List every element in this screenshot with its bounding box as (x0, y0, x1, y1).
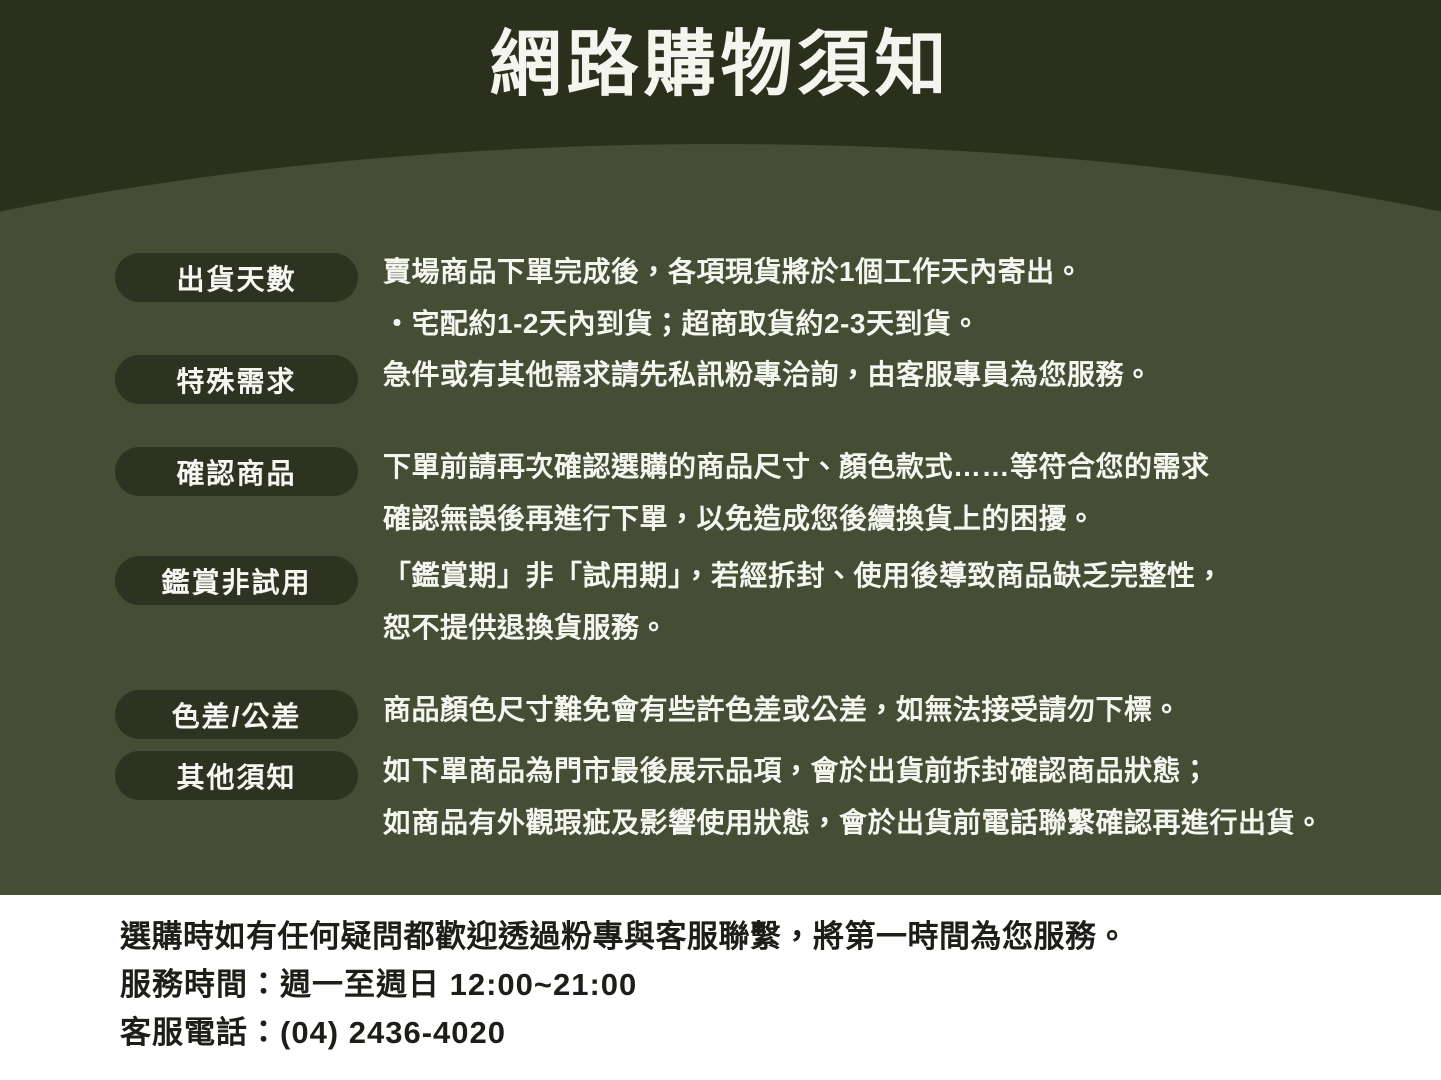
notice-label-inspection-not-trial: 鑑賞非試用 (115, 556, 358, 605)
notice-line: ・宅配約1-2天內到貨；超商取貨約2-3天到貨。 (383, 298, 1083, 350)
notice-text-confirm-product: 下單前請再次確認選購的商品尺寸、顏色款式……等符合您的需求 確認無誤後再進行下單… (383, 441, 1210, 545)
notice-label-confirm-product: 確認商品 (115, 447, 358, 496)
notice-label-color-size-tolerance: 色差/公差 (115, 690, 358, 739)
notice-line: 如下單商品為門市最後展示品項，會於出貨前拆封確認商品狀態； (383, 745, 1324, 797)
notice-line: 急件或有其他需求請先私訊粉專洽詢，由客服專員為您服務。 (383, 349, 1153, 401)
notice-text-inspection-not-trial: 「鑑賞期」非「試用期」，若經拆封、使用後導致商品缺乏完整性， 恕不提供退換貨服務… (383, 550, 1224, 654)
footer-service-hours: 服務時間：週一至週日 12:00~21:00 (120, 961, 1128, 1009)
notice-line: 下單前請再次確認選購的商品尺寸、顏色款式……等符合您的需求 (383, 441, 1210, 493)
notice-label-shipping-days: 出貨天數 (115, 253, 358, 302)
notice-text-shipping-days: 賣場商品下單完成後，各項現貨將於1個工作天內寄出。 ・宅配約1-2天內到貨；超商… (383, 246, 1083, 350)
notice-text-color-size-tolerance: 商品顏色尺寸難免會有些許色差或公差，如無法接受請勿下標。 (383, 684, 1181, 736)
footer-contact-section: 選購時如有任何疑問都歡迎透過粉專與客服聯繫，將第一時間為您服務。 服務時間：週一… (0, 895, 1441, 1080)
notice-label-other-notes: 其他須知 (115, 751, 358, 800)
footer-contact-note: 選購時如有任何疑問都歡迎透過粉專與客服聯繫，將第一時間為您服務。 (120, 913, 1128, 961)
notice-line: 確認無誤後再進行下單，以免造成您後續換貨上的困擾。 (383, 493, 1210, 545)
promo-notice-page: 網路購物須知 出貨天數 賣場商品下單完成後，各項現貨將於1個工作天內寄出。 ・宅… (0, 0, 1441, 1080)
notice-text-special-request: 急件或有其他需求請先私訊粉專洽詢，由客服專員為您服務。 (383, 349, 1153, 401)
notice-line: 「鑑賞期」非「試用期」，若經拆封、使用後導致商品缺乏完整性， (383, 550, 1224, 602)
footer-service-phone: 客服電話：(04) 2436-4020 (120, 1009, 1128, 1057)
notice-rows: 出貨天數 賣場商品下單完成後，各項現貨將於1個工作天內寄出。 ・宅配約1-2天內… (0, 0, 1441, 895)
notice-line: 賣場商品下單完成後，各項現貨將於1個工作天內寄出。 (383, 246, 1083, 298)
notice-line: 恕不提供退換貨服務。 (383, 602, 1224, 654)
notice-label-special-request: 特殊需求 (115, 355, 358, 404)
notice-line: 商品顏色尺寸難免會有些許色差或公差，如無法接受請勿下標。 (383, 684, 1181, 736)
notice-text-other-notes: 如下單商品為門市最後展示品項，會於出貨前拆封確認商品狀態； 如商品有外觀瑕疵及影… (383, 745, 1324, 849)
notice-line: 如商品有外觀瑕疵及影響使用狀態，會於出貨前電話聯繫確認再進行出貨。 (383, 797, 1324, 849)
page-title: 網路購物須知 (0, 22, 1441, 108)
footer-text-block: 選購時如有任何疑問都歡迎透過粉專與客服聯繫，將第一時間為您服務。 服務時間：週一… (120, 913, 1128, 1057)
